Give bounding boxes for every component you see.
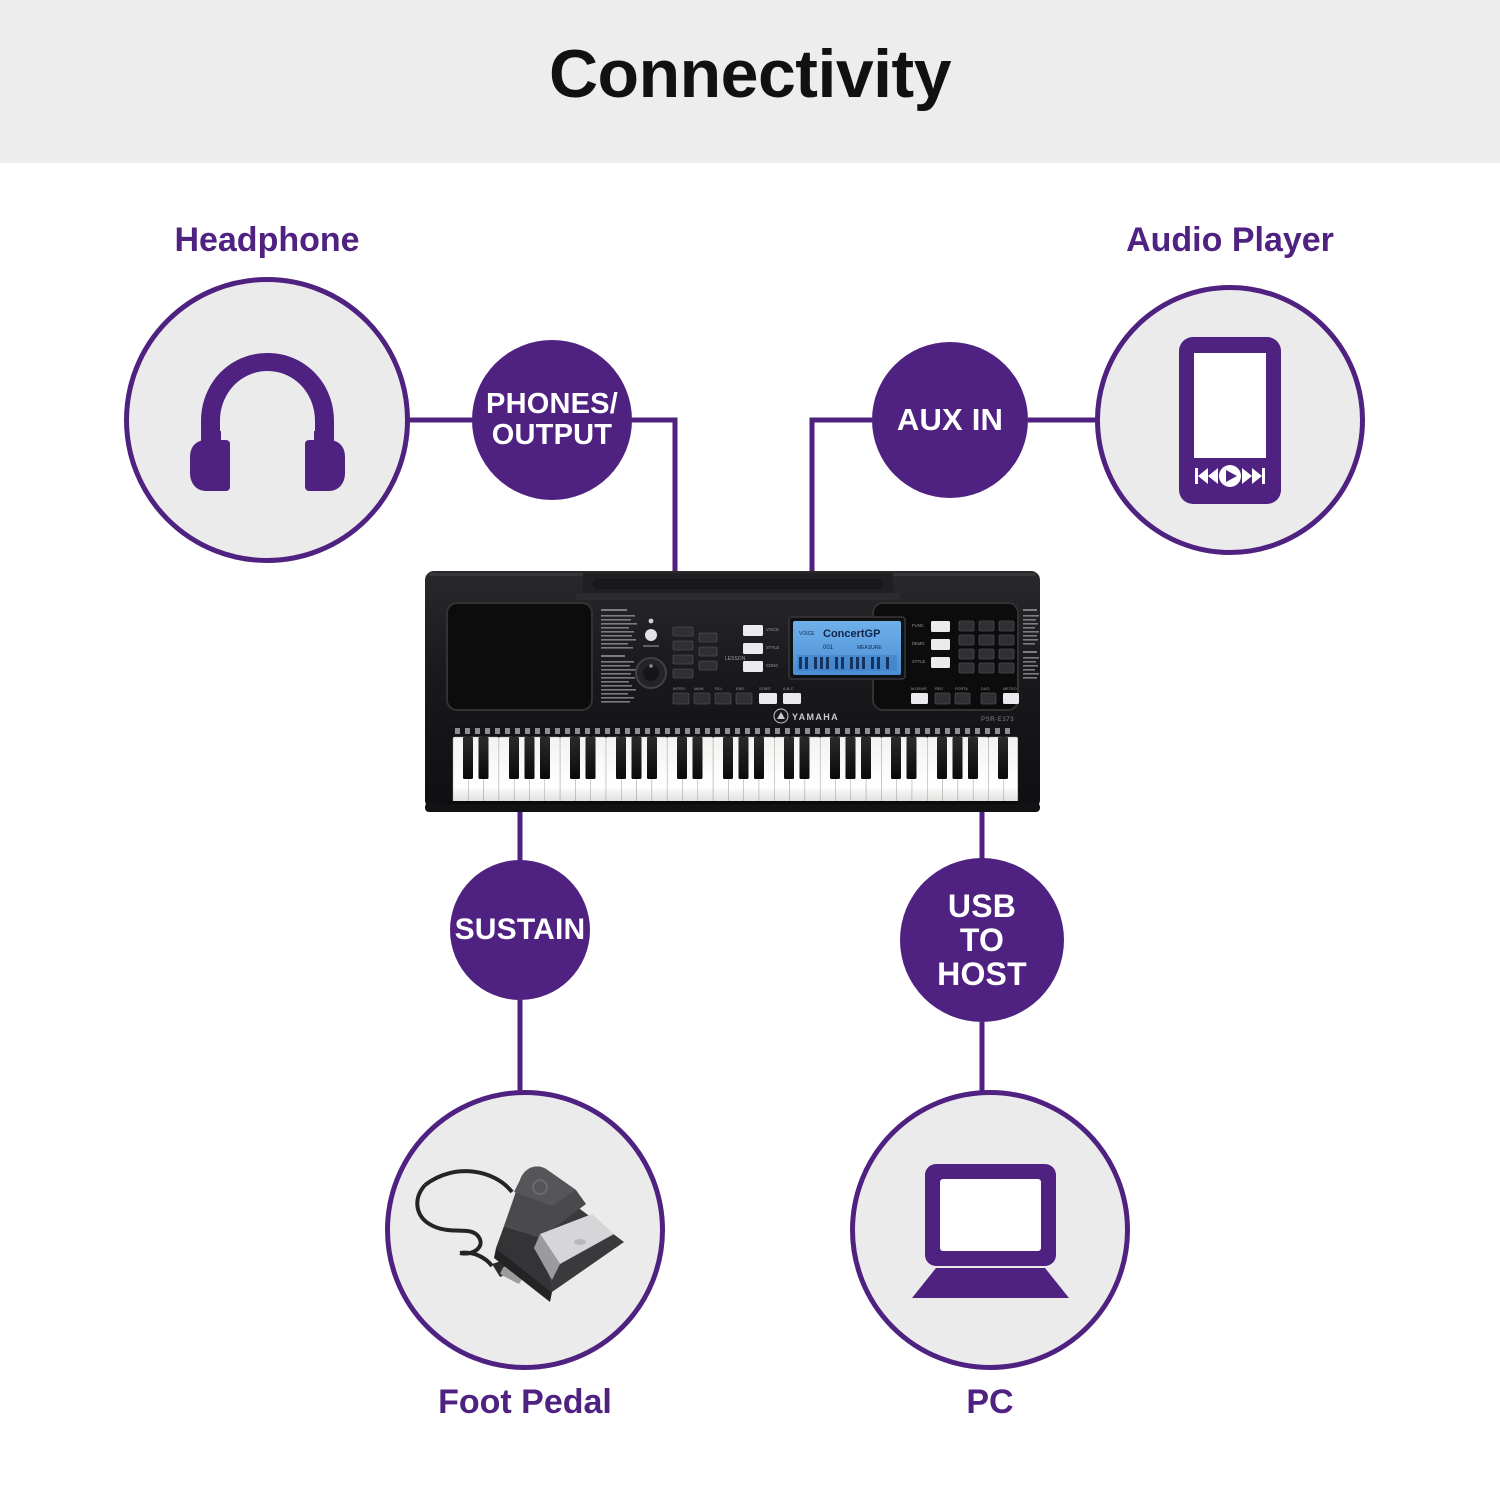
port-badge-text: SUSTAIN [455, 914, 586, 946]
svg-text:PORTA: PORTA [955, 687, 968, 691]
lcd-number: 001 [823, 645, 834, 651]
port-badge-text: AUX IN [897, 403, 1003, 436]
port-badge-aux-in[interactable]: AUX IN [872, 342, 1028, 498]
category-buttons [743, 625, 763, 672]
svg-text:MAIN: MAIN [694, 687, 704, 691]
svg-text:FUNC: FUNC [912, 623, 924, 628]
device-circle-foot-pedal[interactable] [385, 1090, 665, 1370]
svg-text:M.DRIVE: M.DRIVE [911, 687, 927, 691]
svg-text:STYLE: STYLE [912, 659, 925, 664]
svg-text:START: START [759, 687, 772, 691]
foot-pedal-icon [400, 1130, 650, 1330]
svg-text:DUO: DUO [981, 687, 989, 691]
svg-text:A-B-C: A-B-C [783, 687, 794, 691]
lesson-label: LESSON [725, 656, 746, 662]
buttons-right-of-display [931, 621, 950, 668]
device-label-foot-pedal: Foot Pedal [325, 1384, 725, 1421]
power-led [649, 619, 654, 624]
device-circle-audio-player[interactable] [1095, 285, 1365, 555]
standby-button [645, 629, 657, 641]
device-circle-pc[interactable] [850, 1090, 1130, 1370]
port-badge-sustain[interactable]: SUSTAIN [450, 860, 590, 1000]
svg-text:INTRO: INTRO [673, 687, 685, 691]
keyboard-model-text: PSR-E373 [981, 717, 1014, 723]
svg-text:DEMO: DEMO [912, 641, 925, 646]
svg-text:METRO: METRO [1003, 687, 1017, 691]
connectivity-diagram: Connectivity [0, 0, 1500, 1500]
lcd-voice-name: ConcertGP [823, 628, 880, 640]
svg-text:STYLE: STYLE [766, 645, 779, 650]
svg-text:VOICE: VOICE [766, 627, 779, 632]
speaker-grille-left [447, 603, 592, 710]
port-badge-phones-output[interactable]: PHONES/OUTPUT [472, 340, 632, 500]
svg-text:FILL: FILL [715, 687, 723, 691]
yamaha-wordmark: YAMAHA [792, 712, 839, 722]
audio-player-icon [1175, 333, 1285, 508]
svg-text:SONG: SONG [766, 663, 778, 668]
port-badge-text: USBTOHOST [937, 889, 1027, 992]
device-label-audio-player: Audio Player [1030, 222, 1430, 259]
yamaha-keyboard-image: LESSON VOICE STYLE SONG ConcertGP VOICE … [425, 565, 1040, 823]
piano-keys [453, 737, 1018, 803]
device-circle-headphone[interactable] [124, 277, 410, 563]
wire-phones-to-keyboard [630, 420, 675, 578]
key-label-strip [447, 725, 1018, 737]
svg-text:REG: REG [935, 687, 943, 691]
headphone-icon [180, 345, 355, 495]
svg-text:END: END [736, 687, 744, 691]
laptop-icon [903, 1158, 1078, 1303]
svg-text:VOICE: VOICE [799, 631, 815, 637]
white-keys [453, 737, 1018, 803]
port-badge-usb-to-host[interactable]: USBTOHOST [900, 858, 1064, 1022]
device-label-headphone: Headphone [67, 222, 467, 259]
port-badge-text: PHONES/OUTPUT [486, 389, 618, 451]
wire-aux-to-keyboard [812, 420, 872, 578]
device-label-pc: PC [790, 1384, 1190, 1421]
svg-text:MEASURE: MEASURE [857, 645, 882, 651]
